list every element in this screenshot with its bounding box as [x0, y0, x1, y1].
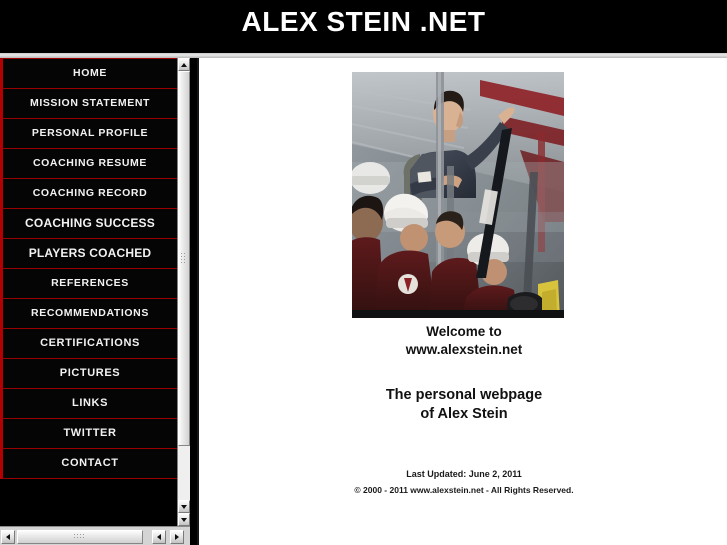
- content-body: Welcome to www.alexstein.net The persona…: [199, 58, 727, 545]
- scroll-left-button[interactable]: [1, 530, 15, 544]
- nav-horizontal-scroll-thumb[interactable]: [17, 530, 143, 544]
- scroll-left-arrow-icon: [6, 534, 10, 540]
- nav-horizontal-scroll-track[interactable]: [17, 530, 143, 544]
- sidebar-item-players-coached[interactable]: PLAYERS COACHED: [0, 238, 177, 269]
- scroll-thumb-grip-icon: [181, 253, 187, 265]
- sidebar-item-contact[interactable]: CONTACT: [0, 448, 177, 479]
- sidebar-item-references[interactable]: REFERENCES: [0, 268, 177, 299]
- nav-vertical-scrollbar[interactable]: [177, 58, 190, 526]
- site-banner: ALEX STEIN .NET: [0, 0, 727, 53]
- sidebar-item-links[interactable]: LINKS: [0, 388, 177, 419]
- scroll-up-button[interactable]: [178, 58, 190, 71]
- scroll-thumb-grip-icon-h: [74, 534, 86, 540]
- navigation-frame: HOMEMISSION STATEMENTPERSONAL PROFILECOA…: [0, 58, 190, 545]
- scroll-down-arrow-icon: [181, 505, 187, 509]
- nav-vertical-scroll-track[interactable]: [178, 71, 190, 500]
- sidebar-item-recommendations[interactable]: RECOMMENDATIONS: [0, 298, 177, 329]
- scroll-down-button[interactable]: [178, 500, 190, 513]
- nav-horizontal-scrollbar[interactable]: [0, 526, 190, 545]
- scroll-down-arrow-icon-secondary: [181, 518, 187, 522]
- scroll-left-button-secondary[interactable]: [152, 530, 166, 544]
- scroll-left-arrow-icon-secondary: [157, 534, 161, 540]
- sidebar-item-coaching-record[interactable]: COACHING RECORD: [0, 178, 177, 209]
- sidebar-item-twitter[interactable]: TWITTER: [0, 418, 177, 449]
- navigation-menu: HOMEMISSION STATEMENTPERSONAL PROFILECOA…: [0, 58, 177, 526]
- site-title: ALEX STEIN .NET: [0, 6, 727, 38]
- sidebar-item-mission-statement[interactable]: MISSION STATEMENT: [0, 88, 177, 119]
- sidebar-item-coaching-resume[interactable]: COACHING RESUME: [0, 148, 177, 179]
- scroll-right-button[interactable]: [170, 530, 184, 544]
- nav-vertical-scroll-thumb[interactable]: [178, 71, 190, 446]
- sidebar-item-personal-profile[interactable]: PERSONAL PROFILE: [0, 118, 177, 149]
- subtitle-text: The personal webpage of Alex Stein: [199, 386, 727, 424]
- page-footer: Last Updated: June 2, 2011 © 2000 - 2011…: [199, 466, 727, 498]
- frameset: HOMEMISSION STATEMENTPERSONAL PROFILECOA…: [0, 58, 727, 545]
- scroll-right-arrow-icon: [175, 534, 179, 540]
- welcome-line-2: www.alexstein.net: [199, 341, 727, 359]
- scroll-down-button-secondary[interactable]: [178, 513, 190, 526]
- sidebar-item-coaching-success[interactable]: COACHING SUCCESS: [0, 208, 177, 239]
- welcome-line-1: Welcome to: [199, 323, 727, 341]
- sidebar-item-certifications[interactable]: CERTIFICATIONS: [0, 328, 177, 359]
- copyright-text: © 2000 - 2011 www.alexstein.net - All Ri…: [199, 482, 727, 498]
- sidebar-item-pictures[interactable]: PICTURES: [0, 358, 177, 389]
- scroll-up-arrow-icon: [181, 63, 187, 67]
- last-updated-text: Last Updated: June 2, 2011: [199, 466, 727, 482]
- coach-photo: [352, 72, 564, 318]
- content-frame: Welcome to www.alexstein.net The persona…: [197, 58, 727, 545]
- welcome-text: Welcome to www.alexstein.net: [199, 323, 727, 359]
- sidebar-item-home[interactable]: HOME: [0, 58, 177, 89]
- subtitle-line-2: of Alex Stein: [199, 405, 727, 424]
- frame-gutter[interactable]: [190, 58, 197, 545]
- subtitle-line-1: The personal webpage: [199, 386, 727, 405]
